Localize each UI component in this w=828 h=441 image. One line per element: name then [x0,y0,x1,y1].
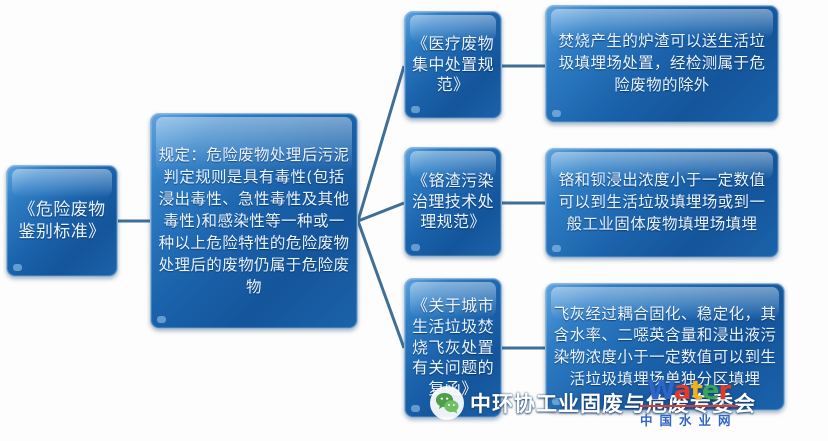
diagram-canvas: 《危险废物鉴别标准》 规定：危险废物处理后污泥判定规则是具有毒性(包括浸出毒性、… [0,0,828,441]
node-desc-fly-ash-solidification[interactable]: 飞灰经过耦合固化、稳定化，其含水率、二噁英含量和浸出液污染物浓度小于一定数值可以… [545,283,785,411]
node-label: 规定：危险废物处理后污泥判定规则是具有毒性(包括浸出毒性、急性毒性及其他毒性)和… [151,142,357,300]
node-label: 铬和钡浸出浓度小于一定数值可以到生活垃圾填埋场或到一般工业固体废物填埋场填埋 [546,168,778,237]
node-sludge-determination-rule[interactable]: 规定：危险废物处理后污泥判定规则是具有毒性(包括浸出毒性、急性毒性及其他毒性)和… [150,113,358,329]
node-doc-fly-ash-reply[interactable]: 《关于城市生活垃圾焚烧飞灰处置有关问题的复函》 [404,278,502,418]
connector-rule-to-doc-flyash [358,221,404,348]
node-label: 《关于城市生活垃圾焚烧飞灰处置有关问题的复函》 [405,294,501,402]
node-doc-medical-waste-spec[interactable]: 《医疗废物集中处置规范》 [404,11,502,119]
node-label: 焚烧产生的炉渣可以送生活垃圾填埋场处置，经检测属于危险废物的除外 [546,29,778,98]
node-label: 《危险废物鉴别标准》 [7,197,117,245]
node-label: 《铬渣污染治理技术处理规范》 [405,169,501,235]
connector-rule-to-doc-chrome [358,203,404,221]
node-desc-incineration-slag[interactable]: 焚烧产生的炉渣可以送生活垃圾填埋场处置，经检测属于危险废物的除外 [545,5,779,123]
node-desc-chromium-barium-leaching[interactable]: 铬和钡浸出浓度小于一定数值可以到生活垃圾填埋场或到一般工业固体废物填埋场填埋 [545,148,779,258]
node-label: 飞灰经过耦合固化、稳定化，其含水率、二噁英含量和浸出液污染物浓度小于一定数值可以… [546,302,784,393]
node-doc-chromium-slag-spec[interactable]: 《铬渣污染治理技术处理规范》 [404,147,502,257]
connector-rule-to-doc-medical [358,66,404,221]
node-hazardous-waste-identification-standard[interactable]: 《危险废物鉴别标准》 [6,165,118,277]
node-label: 《医疗废物集中处置规范》 [405,32,501,98]
